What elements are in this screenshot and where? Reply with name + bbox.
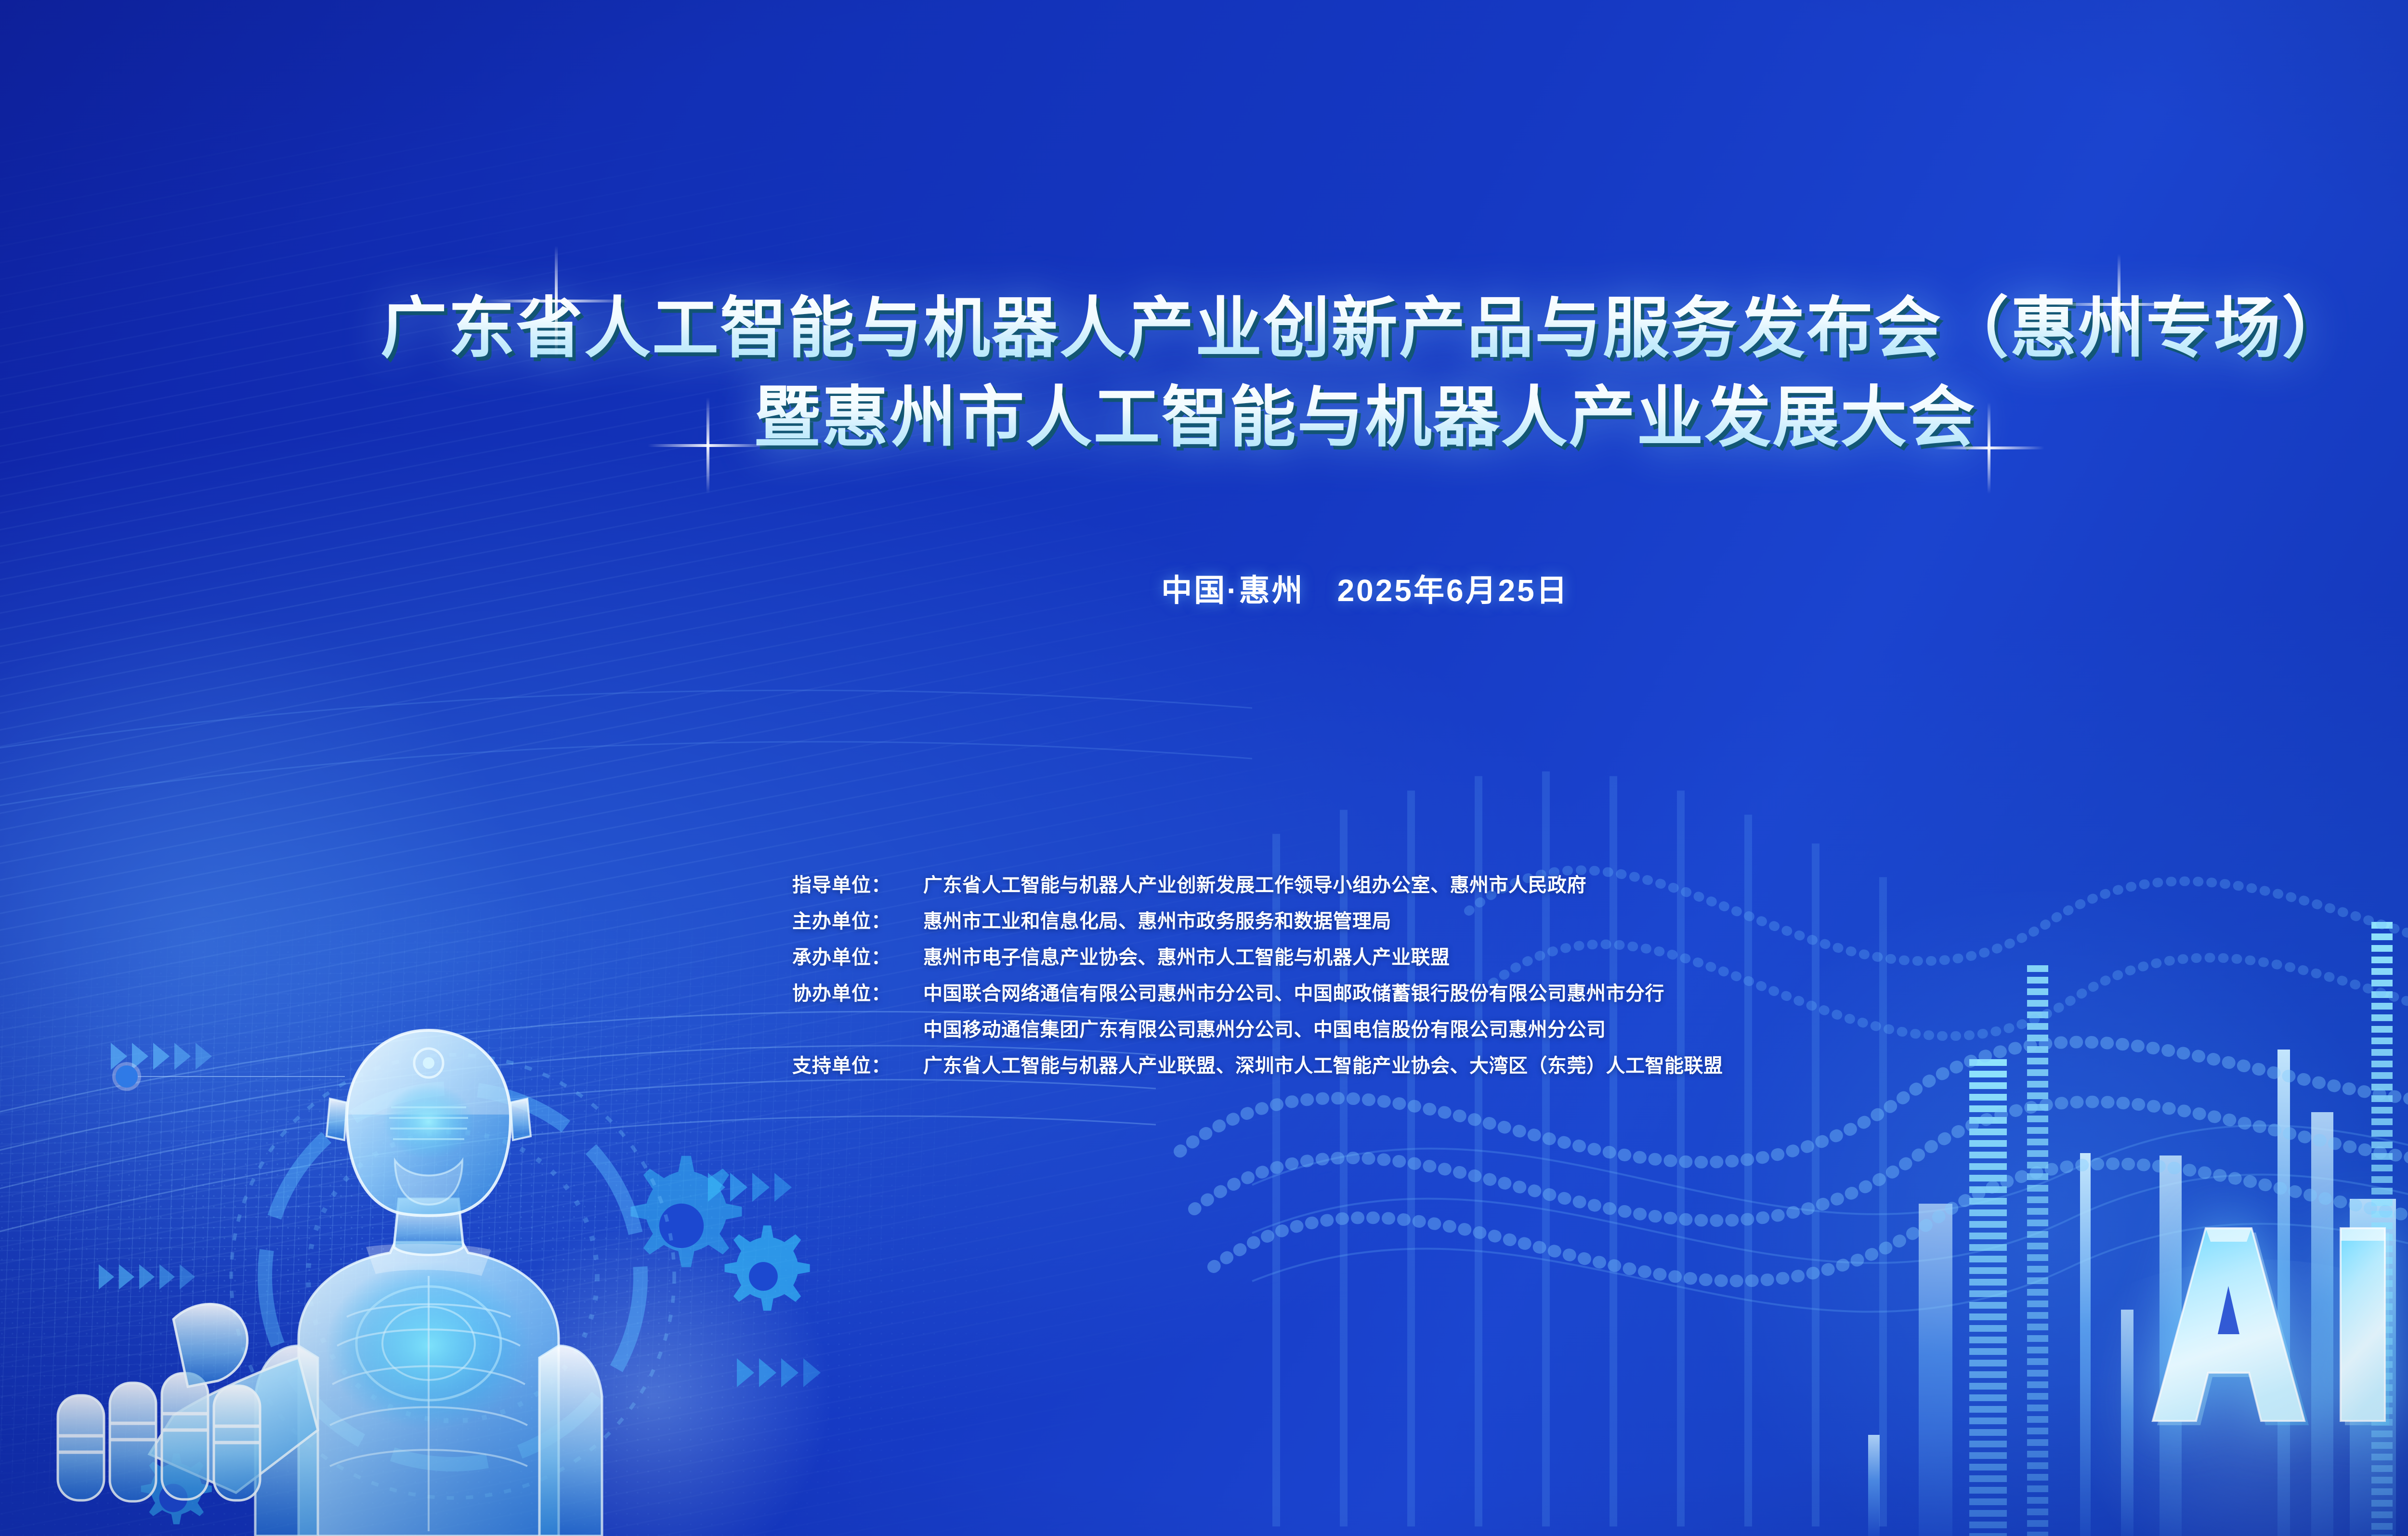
- organizer-row: 支持单位： 广东省人工智能与机器人产业联盟、深圳市人工智能产业协会、大湾区（东莞…: [792, 1050, 1723, 1078]
- organizer-label: 承办单位：: [792, 942, 923, 970]
- organizer-value: 中国移动通信集团广东有限公司惠州分公司、中国电信股份有限公司惠州分公司: [923, 1014, 1606, 1042]
- organizer-label: 主办单位：: [792, 906, 923, 933]
- organizer-label: 协办单位：: [792, 978, 923, 1006]
- page-title-line-1: 广东省人工智能与机器人产业创新产品与服务发布会（惠州专场）: [0, 284, 2408, 373]
- page-title-line-2: 暨惠州市人工智能与机器人产业发展大会: [0, 373, 2408, 462]
- title-block: 广东省人工智能与机器人产业创新产品与服务发布会（惠州专场） 暨惠州市人工智能与机…: [0, 284, 2408, 462]
- organizer-row: 协办单位： 中国联合网络通信有限公司惠州市分公司、中国邮政储蓄银行股份有限公司惠…: [792, 978, 1723, 1006]
- organizer-label: 指导单位：: [792, 869, 923, 897]
- organizer-label: 支持单位：: [792, 1050, 923, 1078]
- subtitle-location-date: 中国·惠州 2025年6月25日: [0, 566, 2408, 610]
- organizers-block: 指导单位： 广东省人工智能与机器人产业创新发展工作领导小组办公室、惠州市人民政府…: [792, 869, 1723, 1086]
- poster-content: 广东省人工智能与机器人产业创新产品与服务发布会（惠州专场） 暨惠州市人工智能与机…: [0, 0, 2408, 1536]
- organizer-row: 主办单位： 惠州市工业和信息化局、惠州市政务服务和数据管理局: [792, 906, 1723, 933]
- organizer-row: 指导单位： 广东省人工智能与机器人产业创新发展工作领导小组办公室、惠州市人民政府: [792, 869, 1723, 897]
- organizer-value: 广东省人工智能与机器人产业联盟、深圳市人工智能产业协会、大湾区（东莞）人工智能联…: [923, 1050, 1723, 1078]
- organizer-row: 承办单位： 惠州市电子信息产业协会、惠州市人工智能与机器人产业联盟: [792, 942, 1723, 970]
- organizer-value: 惠州市工业和信息化局、惠州市政务服务和数据管理局: [923, 906, 1391, 933]
- organizer-row-continuation: 中国移动通信集团广东有限公司惠州分公司、中国电信股份有限公司惠州分公司: [792, 1014, 1723, 1042]
- organizer-value: 惠州市电子信息产业协会、惠州市人工智能与机器人产业联盟: [923, 942, 1450, 970]
- organizer-value: 中国联合网络通信有限公司惠州市分公司、中国邮政储蓄银行股份有限公司惠州市分行: [923, 978, 1664, 1006]
- organizer-value: 广东省人工智能与机器人产业创新发展工作领导小组办公室、惠州市人民政府: [923, 869, 1586, 897]
